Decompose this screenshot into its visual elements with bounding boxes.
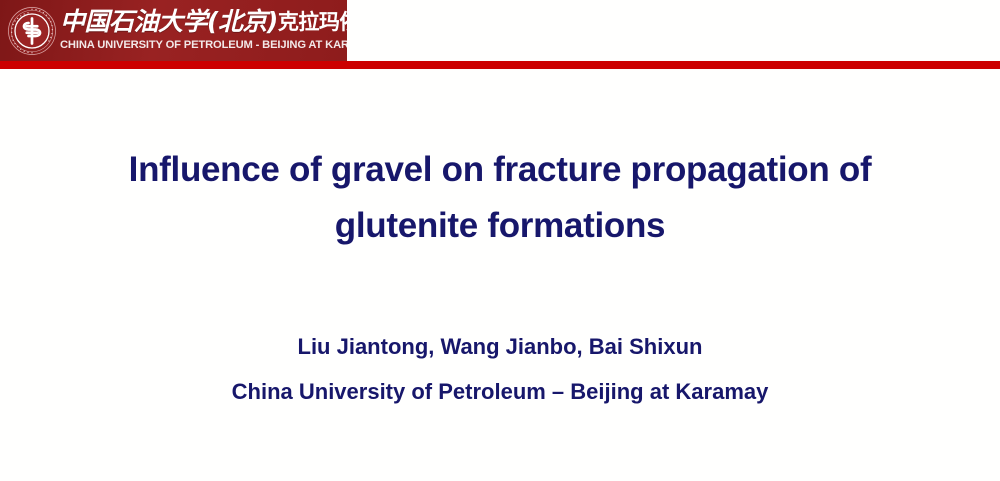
header-band: 中国石油大学(北京)克拉玛依校区 CHINA UNIVERSITY OF PET… bbox=[0, 0, 347, 61]
university-seal-emblem bbox=[7, 6, 57, 56]
university-name-en: CHINA UNIVERSITY OF PETROLEUM - BEIJING … bbox=[60, 38, 347, 52]
header-divider-rule bbox=[0, 61, 1000, 69]
presentation-slide: 中国石油大学(北京)克拉玛依校区 CHINA UNIVERSITY OF PET… bbox=[0, 0, 1000, 481]
university-name-cn-calligraphy: 中国石油大学(北京) bbox=[60, 7, 278, 36]
university-name-cn-campus: 克拉玛依校区 bbox=[278, 10, 347, 34]
university-name-cn: 中国石油大学(北京)克拉玛依校区 bbox=[60, 7, 345, 37]
slide-title-line-1: Influence of gravel on fracture propagat… bbox=[0, 142, 1000, 198]
author-list: Liu Jiantong, Wang Jianbo, Bai Shixun bbox=[0, 332, 1000, 362]
slide-byline: Liu Jiantong, Wang Jianbo, Bai Shixun Ch… bbox=[0, 332, 1000, 407]
slide-title-line-2: glutenite formations bbox=[0, 198, 1000, 254]
affiliation-line: China University of Petroleum – Beijing … bbox=[0, 377, 1000, 407]
slide-title: Influence of gravel on fracture propagat… bbox=[0, 142, 1000, 254]
